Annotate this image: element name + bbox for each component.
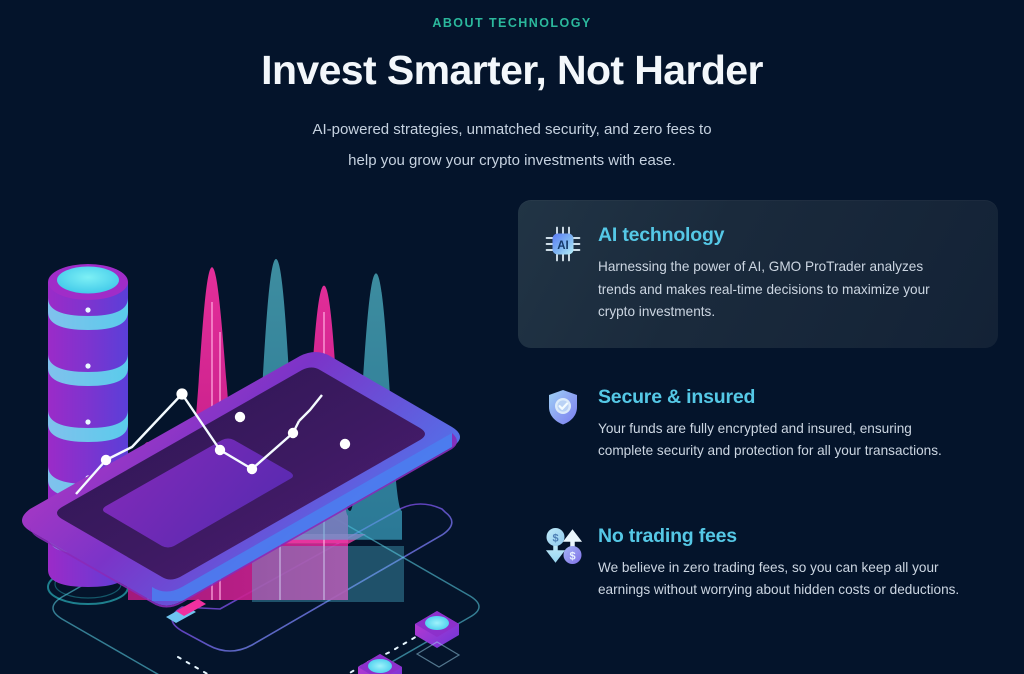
page-subtitle-line-2: help you grow your crypto investments wi… xyxy=(0,145,1024,176)
svg-text:$: $ xyxy=(552,532,558,544)
feature-card-no-trading-fees[interactable]: $ $ No trading fees We believe in zero t… xyxy=(518,501,998,626)
isometric-crypto-analytics-illustration xyxy=(0,182,500,674)
feature-body: No trading fees We believe in zero tradi… xyxy=(598,523,964,602)
page-header: ABOUT TECHNOLOGY Invest Smarter, Not Har… xyxy=(0,0,1024,176)
feature-card-secure-insured[interactable]: Secure & insured Your funds are fully en… xyxy=(518,362,998,487)
content-row: AI AI technology Harnessing the power of… xyxy=(0,182,1024,674)
section-eyebrow: ABOUT TECHNOLOGY xyxy=(0,16,1024,30)
network-nodes xyxy=(300,611,459,674)
ai-chip-icon-label: AI xyxy=(557,240,569,252)
network-node xyxy=(358,654,402,674)
feature-title: Secure & insured xyxy=(598,385,964,409)
feature-title: AI technology xyxy=(598,223,964,247)
feature-description: Harnessing the power of AI, GMO ProTrade… xyxy=(598,256,964,324)
page-title: Invest Smarter, Not Harder xyxy=(0,47,1024,94)
svg-text:$: $ xyxy=(569,550,575,562)
feature-card-ai-technology[interactable]: AI AI technology Harnessing the power of… xyxy=(518,200,998,348)
page-subtitle: AI-powered strategies, unmatched securit… xyxy=(0,114,1024,176)
shield-check-icon xyxy=(544,387,582,427)
feature-body: Secure & insured Your funds are fully en… xyxy=(598,384,964,463)
ai-chip-icon: AI xyxy=(544,225,582,265)
network-node xyxy=(415,611,459,667)
feature-description: Your funds are fully encrypted and insur… xyxy=(598,418,964,463)
dollar-transfer-icon: $ $ xyxy=(544,526,582,566)
feature-title: No trading fees xyxy=(598,524,964,548)
feature-description: We believe in zero trading fees, so you … xyxy=(598,557,964,602)
page-subtitle-line-1: AI-powered strategies, unmatched securit… xyxy=(0,114,1024,145)
feature-body: AI technology Harnessing the power of AI… xyxy=(598,222,964,324)
feature-list: AI AI technology Harnessing the power of… xyxy=(518,200,998,626)
